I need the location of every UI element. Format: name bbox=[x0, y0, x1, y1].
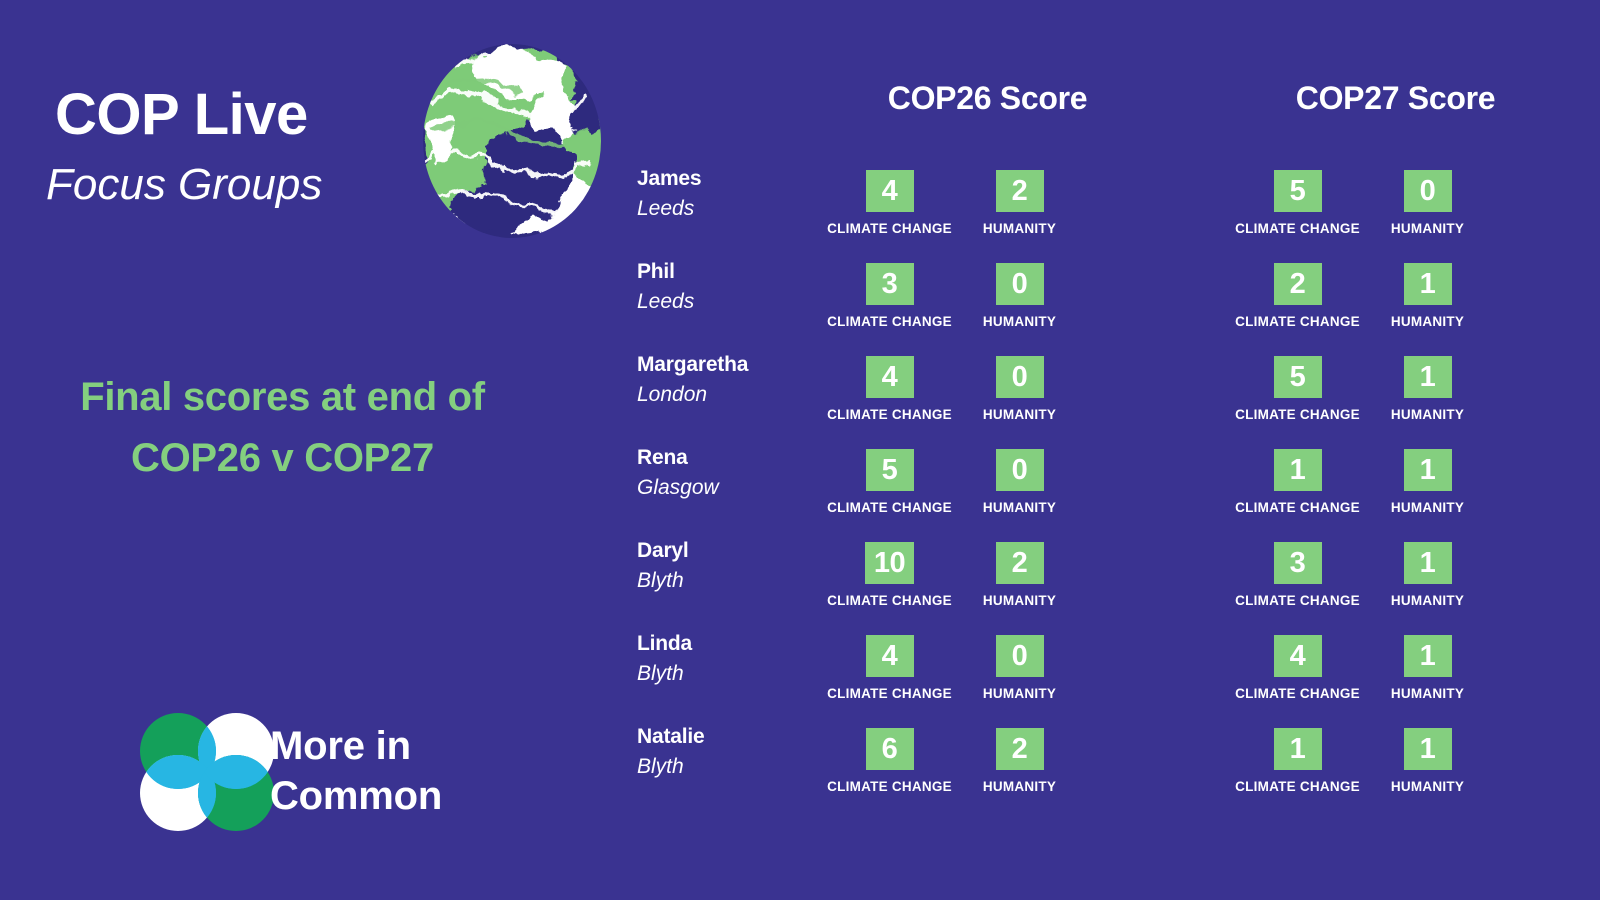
score-group-cop26: 10CLIMATE CHANGE2HUMANITY bbox=[812, 542, 1072, 608]
score-value-climate-change: 1 bbox=[1274, 449, 1322, 491]
table-row: RenaGlasgow5CLIMATE CHANGE0HUMANITY1CLIM… bbox=[0, 449, 1600, 542]
score-cell-climate-change: 1CLIMATE CHANGE bbox=[1220, 449, 1375, 515]
score-value-climate-change: 1 bbox=[1274, 728, 1322, 770]
score-cell-climate-change: 4CLIMATE CHANGE bbox=[1220, 635, 1375, 701]
score-cell-climate-change: 10CLIMATE CHANGE bbox=[812, 542, 967, 608]
score-metric-label-climate-change: CLIMATE CHANGE bbox=[1235, 500, 1360, 515]
score-group-cop27: 2CLIMATE CHANGE1HUMANITY bbox=[1220, 263, 1480, 329]
score-value-humanity: 0 bbox=[996, 635, 1044, 677]
score-value-humanity: 0 bbox=[996, 449, 1044, 491]
table-row: MargarethaLondon4CLIMATE CHANGE0HUMANITY… bbox=[0, 356, 1600, 449]
score-value-humanity: 0 bbox=[996, 263, 1044, 305]
participant-cell: RenaGlasgow bbox=[637, 443, 827, 504]
score-value-climate-change: 4 bbox=[866, 356, 914, 398]
score-table: JamesLeeds4CLIMATE CHANGE2HUMANITY5CLIMA… bbox=[0, 0, 1600, 900]
score-cell-humanity: 1HUMANITY bbox=[1375, 449, 1480, 515]
score-value-climate-change: 3 bbox=[1274, 542, 1322, 584]
score-group-cop27: 1CLIMATE CHANGE1HUMANITY bbox=[1220, 449, 1480, 515]
score-value-humanity: 1 bbox=[1404, 542, 1452, 584]
participant-name: Daryl bbox=[637, 536, 827, 566]
score-metric-label-humanity: HUMANITY bbox=[983, 593, 1056, 608]
score-metric-label-climate-change: CLIMATE CHANGE bbox=[827, 779, 952, 794]
participant-city: London bbox=[637, 380, 827, 410]
score-value-climate-change: 5 bbox=[1274, 356, 1322, 398]
score-cell-climate-change: 1CLIMATE CHANGE bbox=[1220, 728, 1375, 794]
score-group-cop26: 5CLIMATE CHANGE0HUMANITY bbox=[812, 449, 1072, 515]
score-cell-climate-change: 4CLIMATE CHANGE bbox=[812, 356, 967, 422]
score-cell-humanity: 2HUMANITY bbox=[967, 170, 1072, 236]
score-metric-label-climate-change: CLIMATE CHANGE bbox=[827, 500, 952, 515]
score-metric-label-climate-change: CLIMATE CHANGE bbox=[1235, 686, 1360, 701]
score-value-humanity: 0 bbox=[996, 356, 1044, 398]
score-cell-humanity: 1HUMANITY bbox=[1375, 635, 1480, 701]
score-cell-climate-change: 5CLIMATE CHANGE bbox=[812, 449, 967, 515]
score-cell-humanity: 1HUMANITY bbox=[1375, 542, 1480, 608]
score-value-climate-change: 5 bbox=[866, 449, 914, 491]
score-metric-label-climate-change: CLIMATE CHANGE bbox=[827, 221, 952, 236]
score-value-climate-change: 4 bbox=[1274, 635, 1322, 677]
score-metric-label-humanity: HUMANITY bbox=[1391, 314, 1464, 329]
score-metric-label-humanity: HUMANITY bbox=[1391, 500, 1464, 515]
score-metric-label-climate-change: CLIMATE CHANGE bbox=[1235, 314, 1360, 329]
participant-cell: JamesLeeds bbox=[637, 164, 827, 225]
score-cell-climate-change: 5CLIMATE CHANGE bbox=[1220, 170, 1375, 236]
score-value-humanity: 2 bbox=[996, 728, 1044, 770]
score-cell-humanity: 0HUMANITY bbox=[967, 449, 1072, 515]
score-value-humanity: 2 bbox=[996, 542, 1044, 584]
score-metric-label-humanity: HUMANITY bbox=[1391, 407, 1464, 422]
score-value-climate-change: 2 bbox=[1274, 263, 1322, 305]
score-metric-label-humanity: HUMANITY bbox=[983, 407, 1056, 422]
score-metric-label-humanity: HUMANITY bbox=[983, 500, 1056, 515]
score-metric-label-humanity: HUMANITY bbox=[1391, 779, 1464, 794]
score-cell-humanity: 2HUMANITY bbox=[967, 728, 1072, 794]
participant-name: James bbox=[637, 164, 827, 194]
score-metric-label-humanity: HUMANITY bbox=[1391, 686, 1464, 701]
score-cell-climate-change: 4CLIMATE CHANGE bbox=[812, 170, 967, 236]
score-group-cop27: 3CLIMATE CHANGE1HUMANITY bbox=[1220, 542, 1480, 608]
score-cell-humanity: 1HUMANITY bbox=[1375, 356, 1480, 422]
score-metric-label-climate-change: CLIMATE CHANGE bbox=[827, 314, 952, 329]
score-group-cop26: 4CLIMATE CHANGE0HUMANITY bbox=[812, 356, 1072, 422]
table-row: DarylBlyth10CLIMATE CHANGE2HUMANITY3CLIM… bbox=[0, 542, 1600, 635]
participant-city: Leeds bbox=[637, 287, 827, 317]
score-metric-label-humanity: HUMANITY bbox=[983, 686, 1056, 701]
score-cell-climate-change: 6CLIMATE CHANGE bbox=[812, 728, 967, 794]
table-row: LindaBlyth4CLIMATE CHANGE0HUMANITY4CLIMA… bbox=[0, 635, 1600, 728]
participant-name: Margaretha bbox=[637, 350, 827, 380]
score-value-humanity: 1 bbox=[1404, 728, 1452, 770]
table-row: PhilLeeds3CLIMATE CHANGE0HUMANITY2CLIMAT… bbox=[0, 263, 1600, 356]
participant-city: Blyth bbox=[637, 752, 827, 782]
score-value-humanity: 1 bbox=[1404, 263, 1452, 305]
score-group-cop27: 1CLIMATE CHANGE1HUMANITY bbox=[1220, 728, 1480, 794]
participant-city: Blyth bbox=[637, 566, 827, 596]
score-group-cop27: 5CLIMATE CHANGE0HUMANITY bbox=[1220, 170, 1480, 236]
score-cell-climate-change: 2CLIMATE CHANGE bbox=[1220, 263, 1375, 329]
score-metric-label-climate-change: CLIMATE CHANGE bbox=[1235, 221, 1360, 236]
participant-cell: PhilLeeds bbox=[637, 257, 827, 318]
score-cell-humanity: 0HUMANITY bbox=[1375, 170, 1480, 236]
participant-name: Linda bbox=[637, 629, 827, 659]
score-metric-label-humanity: HUMANITY bbox=[983, 221, 1056, 236]
score-metric-label-humanity: HUMANITY bbox=[983, 314, 1056, 329]
participant-name: Rena bbox=[637, 443, 827, 473]
score-value-climate-change: 5 bbox=[1274, 170, 1322, 212]
score-value-humanity: 1 bbox=[1404, 635, 1452, 677]
score-cell-humanity: 1HUMANITY bbox=[1375, 728, 1480, 794]
score-cell-humanity: 0HUMANITY bbox=[967, 635, 1072, 701]
score-cell-humanity: 1HUMANITY bbox=[1375, 263, 1480, 329]
score-metric-label-climate-change: CLIMATE CHANGE bbox=[827, 407, 952, 422]
participant-cell: LindaBlyth bbox=[637, 629, 827, 690]
participant-cell: MargarethaLondon bbox=[637, 350, 827, 411]
score-metric-label-climate-change: CLIMATE CHANGE bbox=[1235, 593, 1360, 608]
score-metric-label-climate-change: CLIMATE CHANGE bbox=[827, 686, 952, 701]
score-value-climate-change: 4 bbox=[866, 635, 914, 677]
score-group-cop27: 5CLIMATE CHANGE1HUMANITY bbox=[1220, 356, 1480, 422]
score-group-cop26: 4CLIMATE CHANGE2HUMANITY bbox=[812, 170, 1072, 236]
score-metric-label-climate-change: CLIMATE CHANGE bbox=[827, 593, 952, 608]
score-group-cop26: 6CLIMATE CHANGE2HUMANITY bbox=[812, 728, 1072, 794]
score-value-humanity: 1 bbox=[1404, 449, 1452, 491]
score-metric-label-climate-change: CLIMATE CHANGE bbox=[1235, 407, 1360, 422]
score-value-climate-change: 6 bbox=[866, 728, 914, 770]
score-value-humanity: 0 bbox=[1404, 170, 1452, 212]
score-value-climate-change: 3 bbox=[866, 263, 914, 305]
score-cell-climate-change: 3CLIMATE CHANGE bbox=[1220, 542, 1375, 608]
score-metric-label-climate-change: CLIMATE CHANGE bbox=[1235, 779, 1360, 794]
infographic-canvas: COP Live Focus Groups bbox=[0, 0, 1600, 900]
score-metric-label-humanity: HUMANITY bbox=[1391, 593, 1464, 608]
participant-city: Blyth bbox=[637, 659, 827, 689]
score-cell-humanity: 2HUMANITY bbox=[967, 542, 1072, 608]
score-group-cop26: 4CLIMATE CHANGE0HUMANITY bbox=[812, 635, 1072, 701]
participant-cell: DarylBlyth bbox=[637, 536, 827, 597]
table-row: JamesLeeds4CLIMATE CHANGE2HUMANITY5CLIMA… bbox=[0, 170, 1600, 263]
participant-city: Leeds bbox=[637, 194, 827, 224]
score-value-humanity: 2 bbox=[996, 170, 1044, 212]
participant-name: Natalie bbox=[637, 722, 827, 752]
score-cell-climate-change: 5CLIMATE CHANGE bbox=[1220, 356, 1375, 422]
score-group-cop27: 4CLIMATE CHANGE1HUMANITY bbox=[1220, 635, 1480, 701]
score-metric-label-humanity: HUMANITY bbox=[1391, 221, 1464, 236]
score-value-humanity: 1 bbox=[1404, 356, 1452, 398]
participant-city: Glasgow bbox=[637, 473, 827, 503]
score-value-climate-change: 4 bbox=[866, 170, 914, 212]
score-group-cop26: 3CLIMATE CHANGE0HUMANITY bbox=[812, 263, 1072, 329]
score-cell-climate-change: 4CLIMATE CHANGE bbox=[812, 635, 967, 701]
score-cell-humanity: 0HUMANITY bbox=[967, 263, 1072, 329]
score-value-climate-change: 10 bbox=[865, 542, 914, 584]
score-cell-climate-change: 3CLIMATE CHANGE bbox=[812, 263, 967, 329]
table-row: NatalieBlyth6CLIMATE CHANGE2HUMANITY1CLI… bbox=[0, 728, 1600, 821]
score-metric-label-humanity: HUMANITY bbox=[983, 779, 1056, 794]
score-cell-humanity: 0HUMANITY bbox=[967, 356, 1072, 422]
participant-cell: NatalieBlyth bbox=[637, 722, 827, 783]
participant-name: Phil bbox=[637, 257, 827, 287]
